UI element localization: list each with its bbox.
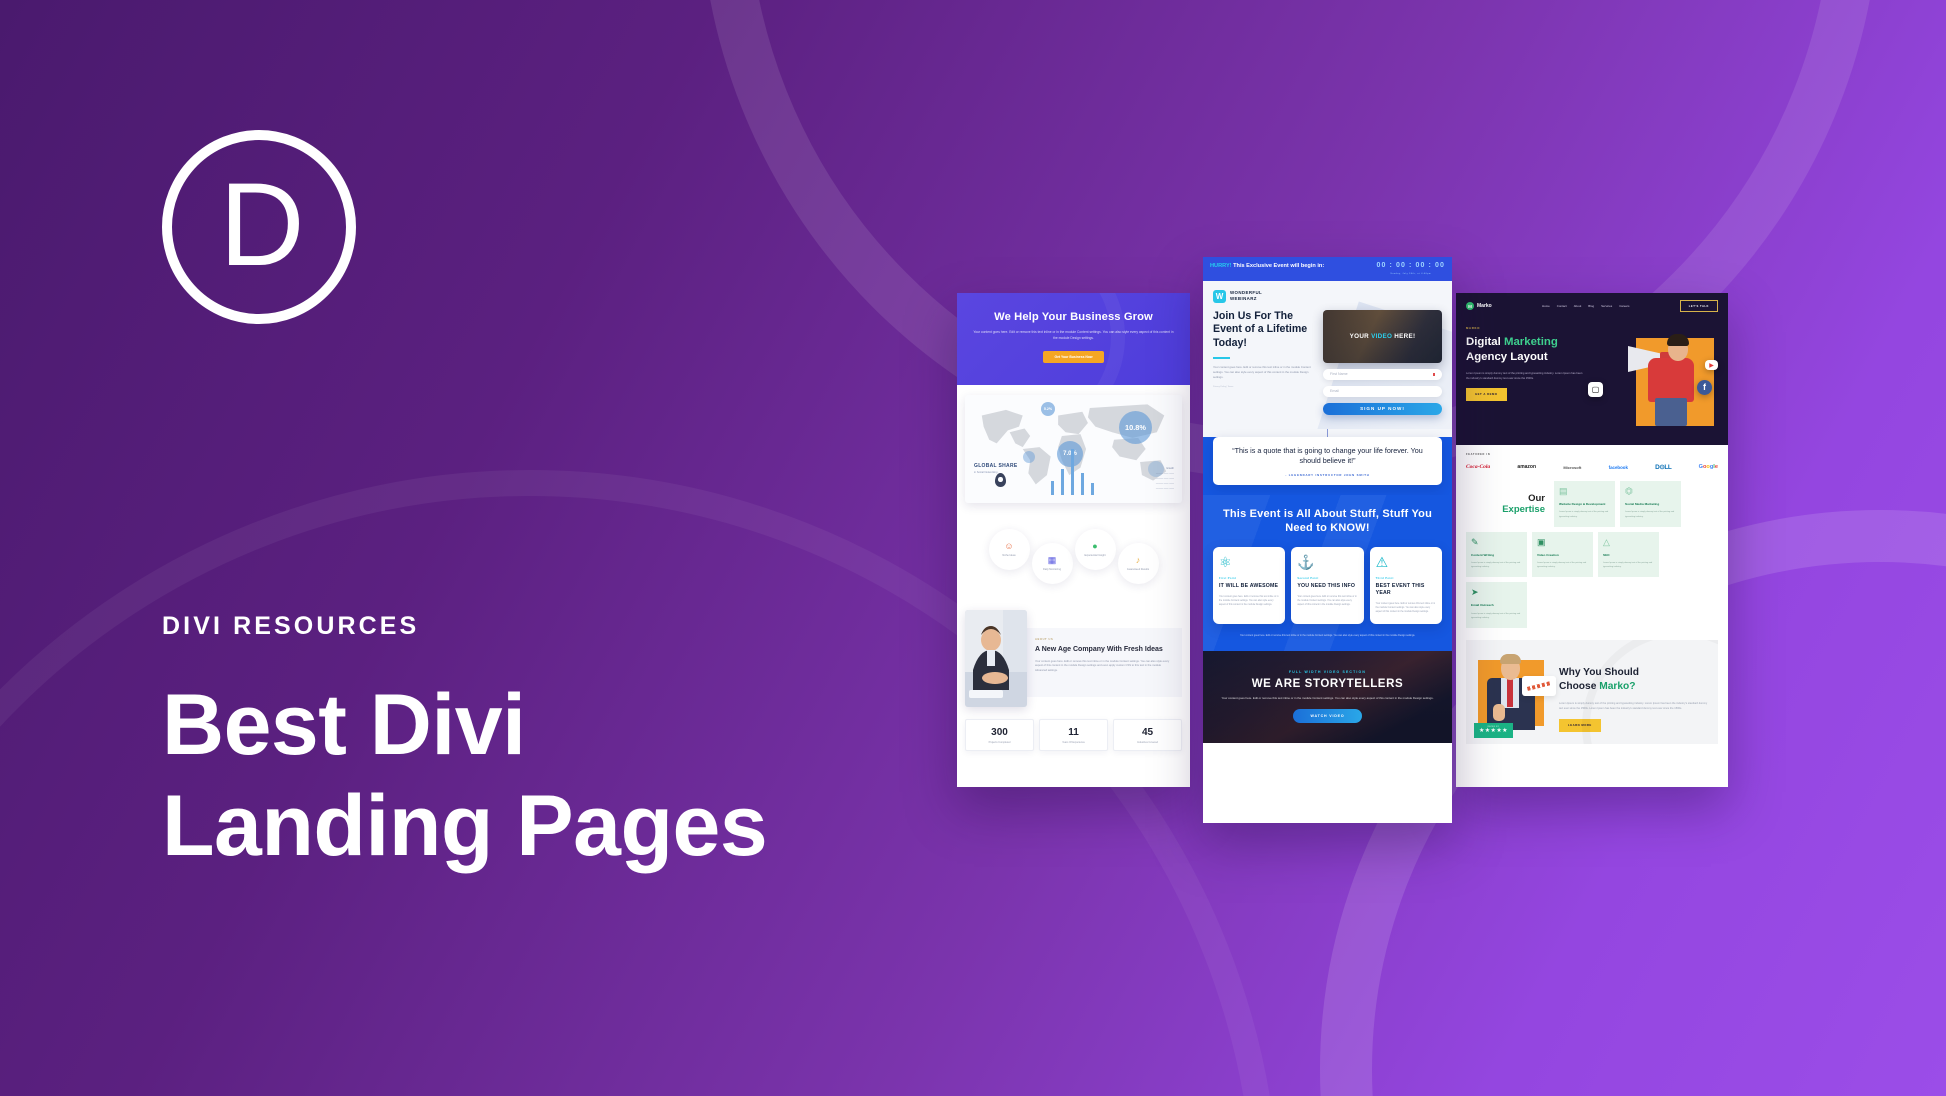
left-hero-section: We Help Your Business Grow Your content … xyxy=(957,293,1190,385)
card-title: BEST EVENT THIS YEAR xyxy=(1376,583,1436,597)
brand-mark: W xyxy=(1213,290,1226,303)
screenshot-stack: We Help Your Business Grow Your content … xyxy=(0,0,1946,1096)
thumbs-up-man-image: RATED BY ★★★★★ xyxy=(1476,650,1550,732)
video-icon: ▣ xyxy=(1537,538,1588,547)
dell-logo: D⊙LL xyxy=(1655,463,1671,471)
quote-card: “This is a quote that is going to change… xyxy=(1213,437,1442,485)
email-placeholder: Email xyxy=(1330,389,1339,393)
why-choose-copy: Why You ShouldChoose Marko? Lorem Ipsum … xyxy=(1559,650,1708,732)
google-logo: Google xyxy=(1699,464,1718,470)
rating-stars-icon: ★★★★★ xyxy=(1479,728,1508,734)
stat-card: 300 Projects Completed xyxy=(965,719,1034,751)
facebook-logo: facebook xyxy=(1609,465,1628,470)
hair xyxy=(1500,654,1521,664)
brand-line-2: WEBINARZ xyxy=(1230,296,1257,301)
card-body: Your content goes here. Edit or remove t… xyxy=(1219,595,1279,608)
why-title-line-1: Why You Should xyxy=(1559,667,1639,678)
coca-cola-logo: Coca-Cola xyxy=(1466,464,1490,470)
chart-bubble-icon xyxy=(1522,676,1556,696)
youtube-icon[interactable]: ▶ xyxy=(1705,360,1718,370)
map-pin-icon xyxy=(995,473,1006,487)
expertise-title: Content Writing xyxy=(1471,553,1522,557)
countdown-labels: Sunday, July 30th, at 4:00pm xyxy=(1376,273,1445,275)
stat-value: 45 xyxy=(1116,727,1179,738)
marko-hero-image: ▢ ▶ f xyxy=(1584,326,1718,401)
webinar-small-note: Privacy Policy | Terms xyxy=(1213,386,1313,388)
businessman-handshake-image xyxy=(965,610,1027,707)
map-legend: Growth ——— —— ————— —— ————— —— ————— ——… xyxy=(1156,466,1174,491)
expertise-card[interactable]: ▣ Video Creation Lorem Ipsum is simply d… xyxy=(1532,532,1593,578)
expertise-card[interactable]: △ SEO Lorem Ipsum is simply dummy text o… xyxy=(1598,532,1659,578)
pushpin-icon: ⚓ xyxy=(1297,555,1357,569)
countdown-prefix: HURRY! xyxy=(1210,263,1232,269)
marko-hero-eyebrow: MARKO xyxy=(1466,326,1584,330)
marko-nav-links: Home Contact About Blog Services Careers xyxy=(1542,304,1629,308)
card-title: IT WILL BE AWESOME xyxy=(1219,583,1279,590)
lightbulb-icon: ● xyxy=(1092,542,1097,551)
grid-icon: ▦ xyxy=(1048,556,1057,565)
hero-title-part-1: Digital xyxy=(1466,336,1504,348)
feature-label: Niche Ideas xyxy=(994,554,1024,558)
megaphone-man-image xyxy=(1644,328,1704,426)
nav-item-services[interactable]: Services xyxy=(1601,304,1612,308)
email-input[interactable]: Email xyxy=(1323,386,1442,397)
card-eyebrow: First Point xyxy=(1219,577,1279,580)
nav-item-home[interactable]: Home xyxy=(1542,304,1550,308)
video-text-1: YOUR xyxy=(1350,333,1371,340)
countdown-text: HURRY! This Exclusive Event will begin i… xyxy=(1210,262,1324,270)
brand-name: WONDERFUL WEBINARZ xyxy=(1230,290,1262,302)
map-title: GLOBAL SHARE xyxy=(974,463,1018,469)
card-eyebrow: Third Point xyxy=(1376,577,1436,580)
event-card[interactable]: ⚓ Second Point YOU NEED THIS INFO Your c… xyxy=(1291,547,1363,624)
video-placeholder-text: YOUR VIDEO HERE! xyxy=(1350,333,1416,340)
webinar-paragraph: Your content goes here. Edit or remove t… xyxy=(1213,365,1313,381)
brand-logos-row: Coca-Cola amazon Microsoft facebook D⊙LL… xyxy=(1466,463,1718,471)
instagram-icon[interactable]: ▢ xyxy=(1588,382,1603,397)
map-bar-chart xyxy=(1051,445,1094,495)
countdown-digits: 00 : 00 : 00 : 00 xyxy=(1376,262,1445,271)
about-eyebrow: ABOUT US xyxy=(1035,638,1173,641)
feature-icon-guaranteed-results[interactable]: ♪ Guaranteed Results xyxy=(1118,543,1159,584)
expertise-line-1: Our xyxy=(1466,493,1545,504)
signup-button[interactable]: SIGN UP NOW! xyxy=(1323,403,1442,415)
countdown-bar: HURRY! This Exclusive Event will begin i… xyxy=(1203,257,1452,281)
feature-label: Guaranteed Results xyxy=(1123,568,1153,572)
about-text: ABOUT US A New Age Company With Fresh Id… xyxy=(1021,628,1182,697)
marko-hero-section: M Marko Home Contact About Blog Services… xyxy=(1456,293,1728,445)
left-about-section: ABOUT US A New Age Company With Fresh Id… xyxy=(965,610,1182,707)
nav-item-contact[interactable]: Contact xyxy=(1557,304,1567,308)
expertise-card[interactable]: ⏣ Social Media Marketing Lorem Ipsum is … xyxy=(1620,481,1681,527)
quote-text: “This is a quote that is going to change… xyxy=(1225,446,1430,466)
marko-hero-paragraph: Lorem Ipsum is simply dummy text of the … xyxy=(1466,371,1584,381)
webinar-form-column: YOUR VIDEO HERE! First Name Email SIGN U… xyxy=(1323,310,1442,415)
left-feature-icons: ☺ Niche Ideas ▦ Daily Monitoring ● Exper… xyxy=(963,529,1184,584)
share-icon: ⏣ xyxy=(1625,487,1676,496)
stat-card: 45 Industries Covered xyxy=(1113,719,1182,751)
expertise-body: Lorem Ipsum is simply dummy text of the … xyxy=(1559,510,1610,518)
microsoft-logo: Microsoft xyxy=(1563,465,1581,470)
required-indicator-icon xyxy=(1433,373,1436,376)
global-share-map-card: 10.8% 7.0% 5.2% GLOBAL SHARE in Social N… xyxy=(965,395,1182,503)
featured-in-label: FEATURED IN xyxy=(1466,453,1718,456)
stat-card: 11 Years Of Experience xyxy=(1039,719,1108,751)
tie xyxy=(1507,679,1513,707)
chart-icon: ♪ xyxy=(1136,556,1141,565)
nav-item-careers[interactable]: Careers xyxy=(1619,304,1629,308)
expertise-card[interactable]: ✎ Content Writing Lorem Ipsum is simply … xyxy=(1466,532,1527,578)
marko-navbar: M Marko Home Contact About Blog Services… xyxy=(1466,300,1718,312)
monitor-icon: ▤ xyxy=(1559,487,1610,496)
landing-page-preview-marko[interactable]: M Marko Home Contact About Blog Services… xyxy=(1456,293,1728,787)
alert-icon: ⚠ xyxy=(1376,555,1436,569)
expertise-body: Lorem Ipsum is simply dummy text of the … xyxy=(1603,561,1654,569)
jeans xyxy=(1655,398,1687,426)
countdown-message: This Exclusive Event will begin in: xyxy=(1233,263,1324,269)
card-body: Your content goes here. Edit or remove t… xyxy=(1376,602,1436,615)
paper-plane-icon: ➤ xyxy=(1471,588,1522,597)
event-about-section: This Event is All About Stuff, Stuff You… xyxy=(1203,495,1452,651)
expertise-line-2: Expertise xyxy=(1466,504,1545,515)
why-choose-title: Why You ShouldChoose Marko? xyxy=(1559,666,1708,694)
map-subtitle: in Social Networking xyxy=(974,471,998,474)
expertise-body: Lorem Ipsum is simply dummy text of the … xyxy=(1471,561,1522,569)
stat-label: Years Of Experience xyxy=(1042,741,1105,744)
why-choose-section: RATED BY ★★★★★ Why You ShouldChoose Mark… xyxy=(1466,640,1718,744)
quote-section: “This is a quote that is going to change… xyxy=(1203,437,1452,495)
marko-hero-title: Digital MarketingAgency Layout xyxy=(1466,335,1584,365)
thumb-up xyxy=(1493,704,1505,721)
first-name-placeholder: First Name xyxy=(1330,372,1348,376)
video-text-2: VIDEO xyxy=(1371,333,1392,340)
countdown-timer: 00 : 00 : 00 : 00 Sunday, July 30th, at … xyxy=(1376,262,1445,275)
about-photo xyxy=(965,610,1027,707)
story-eyebrow: FULL WIDTH VIDEO SECTION xyxy=(1289,670,1366,674)
stat-label: Industries Covered xyxy=(1116,741,1179,744)
expertise-heading: Our Expertise xyxy=(1466,493,1549,515)
brand-line-1: WONDERFUL xyxy=(1230,290,1262,295)
card-eyebrow: Second Point xyxy=(1297,577,1357,580)
video-placeholder[interactable]: YOUR VIDEO HERE! xyxy=(1323,310,1442,363)
user-icon: ☺ xyxy=(1004,542,1013,551)
landing-page-preview-webinar[interactable]: HURRY! This Exclusive Event will begin i… xyxy=(1203,257,1452,823)
why-title-line-2: Choose xyxy=(1559,681,1599,692)
expertise-card[interactable]: ▤ Website Design & Development Lorem Ips… xyxy=(1554,481,1615,527)
marko-logo-mark: M xyxy=(1466,302,1474,310)
story-paragraph: Your content goes here. Edit or remove t… xyxy=(1222,696,1434,702)
lets-talk-button[interactable]: LET'S TALK xyxy=(1680,300,1718,312)
feature-label: Daily Monitoring xyxy=(1037,568,1067,572)
feature-label: Experiential Insight xyxy=(1080,554,1110,558)
growth-icon: △ xyxy=(1603,538,1654,547)
hero-title-accent: Marketing xyxy=(1504,336,1558,348)
why-title-accent: Marko? xyxy=(1599,681,1635,692)
left-hero-paragraph: Your content goes here. Edit or remove t… xyxy=(973,330,1174,341)
about-title: A New Age Company With Fresh Ideas xyxy=(1035,645,1173,654)
landing-page-preview-business[interactable]: We Help Your Business Grow Your content … xyxy=(957,293,1190,787)
event-card[interactable]: ⚠ Third Point BEST EVENT THIS YEAR Your … xyxy=(1370,547,1442,624)
expertise-title: Email Outreach xyxy=(1471,603,1522,607)
expertise-grid: Our Expertise ▤ Website Design & Develop… xyxy=(1466,481,1718,628)
hair xyxy=(1667,334,1689,346)
left-hero-title: We Help Your Business Grow xyxy=(973,311,1174,323)
learn-more-button[interactable]: LEARN MORE xyxy=(1559,719,1601,732)
marko-logo[interactable]: M Marko xyxy=(1466,302,1492,310)
feature-icon-daily-monitoring[interactable]: ▦ Daily Monitoring xyxy=(1032,543,1073,584)
video-text-3: HERE! xyxy=(1392,333,1415,340)
event-about-heading: This Event is All About Stuff, Stuff You… xyxy=(1213,507,1442,536)
expertise-card[interactable]: ➤ Email Outreach Lorem Ipsum is simply d… xyxy=(1466,582,1527,628)
story-heading: WE ARE STORYTELLERS xyxy=(1252,678,1404,690)
first-name-input[interactable]: First Name xyxy=(1323,369,1442,380)
watch-video-button[interactable]: WATCH VIDEO xyxy=(1293,709,1363,723)
left-stats-row: 300 Projects Completed 11 Years Of Exper… xyxy=(965,719,1182,751)
event-card[interactable]: ⚛ First Point IT WILL BE AWESOME Your co… xyxy=(1213,547,1285,624)
divider xyxy=(1213,357,1230,359)
marko-body: FEATURED IN Coca-Cola amazon Microsoft f… xyxy=(1456,445,1728,744)
event-cards-row: ⚛ First Point IT WILL BE AWESOME Your co… xyxy=(1213,547,1442,624)
expertise-body: Lorem Ipsum is simply dummy text of the … xyxy=(1625,510,1676,518)
stat-value: 300 xyxy=(968,727,1031,738)
feature-icon-niche-ideas[interactable]: ☺ Niche Ideas xyxy=(989,529,1030,570)
webinar-hero-copy: Join Us For The Event of a Lifetime Toda… xyxy=(1213,310,1313,415)
feature-icon-experiential-insight[interactable]: ● Experiential Insight xyxy=(1075,529,1116,570)
stat-label: Projects Completed xyxy=(968,741,1031,744)
expertise-body: Lorem Ipsum is simply dummy text of the … xyxy=(1537,561,1588,569)
expertise-title: SEO xyxy=(1603,553,1654,557)
nav-item-about[interactable]: About xyxy=(1574,304,1582,308)
webinar-hero-section: W WONDERFUL WEBINARZ Join Us For The Eve… xyxy=(1203,281,1452,429)
red-shirt xyxy=(1648,358,1694,402)
map-bubble-1: 10.8% xyxy=(1119,411,1152,444)
webinar-brand[interactable]: W WONDERFUL WEBINARZ xyxy=(1213,290,1442,303)
pencil-icon: ✎ xyxy=(1471,538,1522,547)
event-about-footer: Your content goes here. Edit or remove t… xyxy=(1213,634,1442,639)
expertise-title: Video Creation xyxy=(1537,553,1588,557)
facebook-icon[interactable]: f xyxy=(1697,380,1712,395)
about-paragraph: Your content goes here. Edit or remove t… xyxy=(1035,660,1173,674)
expertise-title: Social Media Marketing xyxy=(1625,502,1676,506)
nav-item-blog[interactable]: Blog xyxy=(1588,304,1594,308)
webinar-headline: Join Us For The Event of a Lifetime Toda… xyxy=(1213,310,1313,351)
atom-icon: ⚛ xyxy=(1219,555,1279,569)
get-a-demo-button[interactable]: GET A DEMO xyxy=(1466,388,1507,401)
card-title: YOU NEED THIS INFO xyxy=(1297,583,1357,590)
expertise-title: Website Design & Development xyxy=(1559,502,1610,506)
expertise-body: Lorem Ipsum is simply dummy text of the … xyxy=(1471,612,1522,620)
marko-hero-copy: MARKO Digital MarketingAgency Layout Lor… xyxy=(1466,326,1584,401)
stat-value: 11 xyxy=(1042,727,1105,738)
marko-logo-text: Marko xyxy=(1477,303,1492,309)
left-hero-button[interactable]: Get Your Business Now xyxy=(1043,351,1103,363)
rating-badge: RATED BY ★★★★★ xyxy=(1474,723,1513,738)
quote-attribution: - LEGENDARY INSTRUCTOR JOHN SMITH xyxy=(1225,473,1430,477)
card-body: Your content goes here. Edit or remove t… xyxy=(1297,595,1357,608)
why-choose-paragraph: Lorem Ipsum is simply dummy text of the … xyxy=(1559,701,1708,711)
storytellers-video-section: FULL WIDTH VIDEO SECTION WE ARE STORYTEL… xyxy=(1203,651,1452,743)
amazon-logo: amazon xyxy=(1517,464,1536,470)
hero-title-part-2: Agency Layout xyxy=(1466,351,1548,363)
